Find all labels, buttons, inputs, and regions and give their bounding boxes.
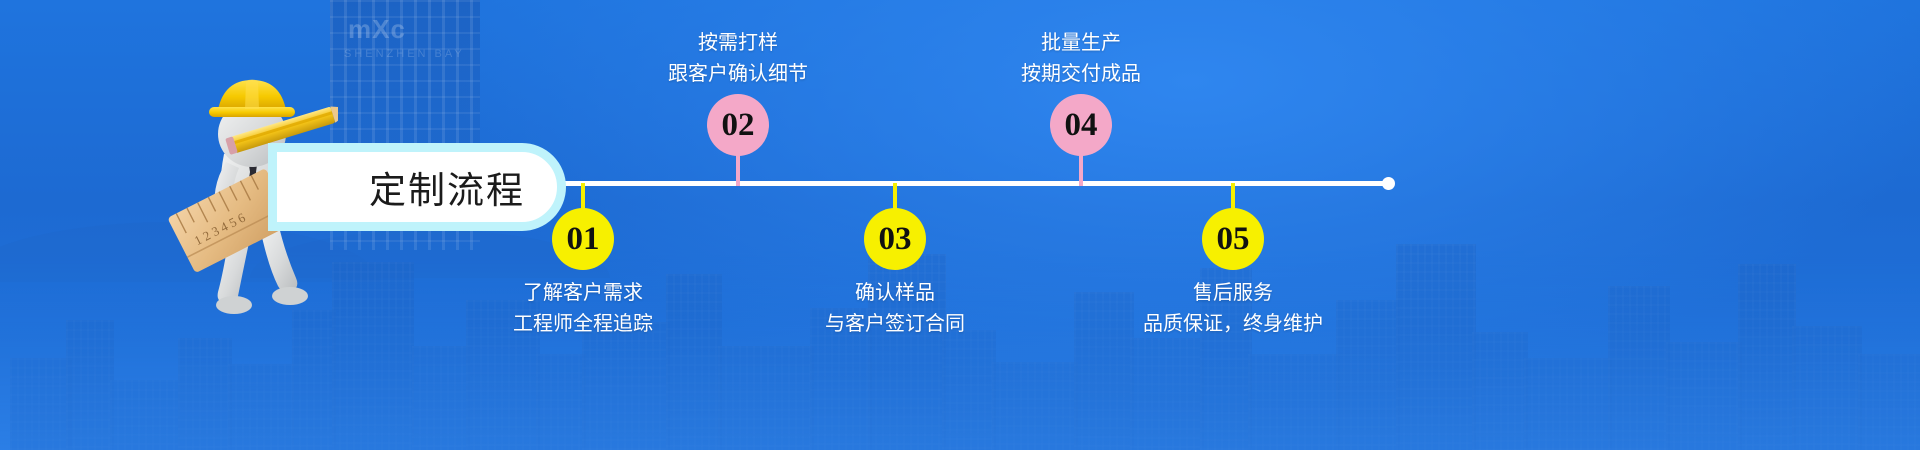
step-caption: 售后服务 品质保证，终身维护 (1083, 278, 1383, 340)
step-caption-line-2: 品质保证，终身维护 (1083, 309, 1383, 340)
tower-logo-mark: mXc (348, 14, 406, 45)
timeline-end-dot (1382, 177, 1395, 190)
step-number-badge[interactable]: 05 (1202, 208, 1264, 270)
step-number-badge[interactable]: 03 (864, 208, 926, 270)
customization-process-banner: mXc SHENZHEN BAY (0, 0, 1920, 450)
hard-hat-icon (209, 80, 295, 118)
step-number-text: 05 (1217, 221, 1250, 258)
step-caption-line-1: 售后服务 (1083, 278, 1383, 309)
step-number-text: 03 (879, 221, 912, 258)
process-step-05[interactable]: 05 售后服务 品质保证，终身维护 (1083, 0, 1383, 450)
step-connector-stem (736, 152, 740, 186)
